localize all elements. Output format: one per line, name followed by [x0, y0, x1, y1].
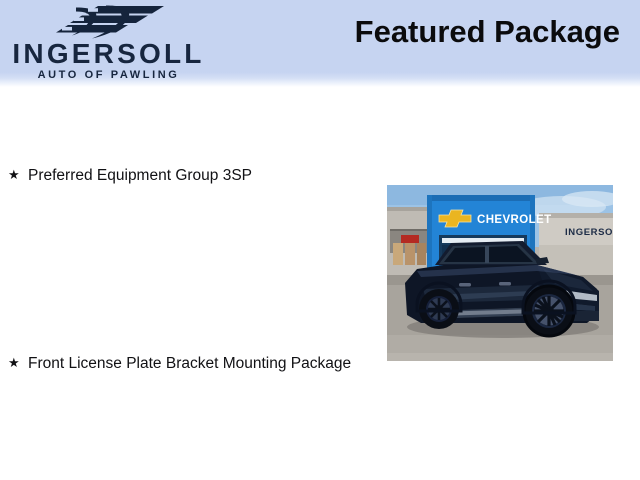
ingersoll-wing-emblem-icon [52, 5, 170, 39]
list-item: ★ Preferred Equipment Group 3SP [8, 166, 368, 186]
svg-text:INGERSOL: INGERSOL [565, 227, 613, 238]
list-item: ★ Front License Plate Bracket Mounting P… [8, 354, 368, 374]
dealer-logo: INGERSOLL AUTO OF PAWLING [6, 2, 211, 84]
page-title: Featured Package [355, 14, 620, 50]
vehicle-photo: INGERSOL CHEVROLET [387, 185, 613, 361]
featured-package-page: INGERSOLL AUTO OF PAWLING Featured Packa… [0, 0, 640, 480]
feature-label: Preferred Equipment Group 3SP [28, 166, 368, 186]
dealer-wordmark: INGERSOLL [6, 40, 211, 68]
star-bullet-icon: ★ [8, 354, 28, 372]
star-bullet-icon: ★ [8, 166, 28, 184]
dealer-tagline: AUTO OF PAWLING [6, 70, 211, 81]
svg-text:CHEVROLET: CHEVROLET [477, 214, 552, 226]
feature-label: Front License Plate Bracket Mounting Pac… [28, 354, 368, 374]
page-header-band: INGERSOLL AUTO OF PAWLING Featured Packa… [0, 0, 640, 87]
